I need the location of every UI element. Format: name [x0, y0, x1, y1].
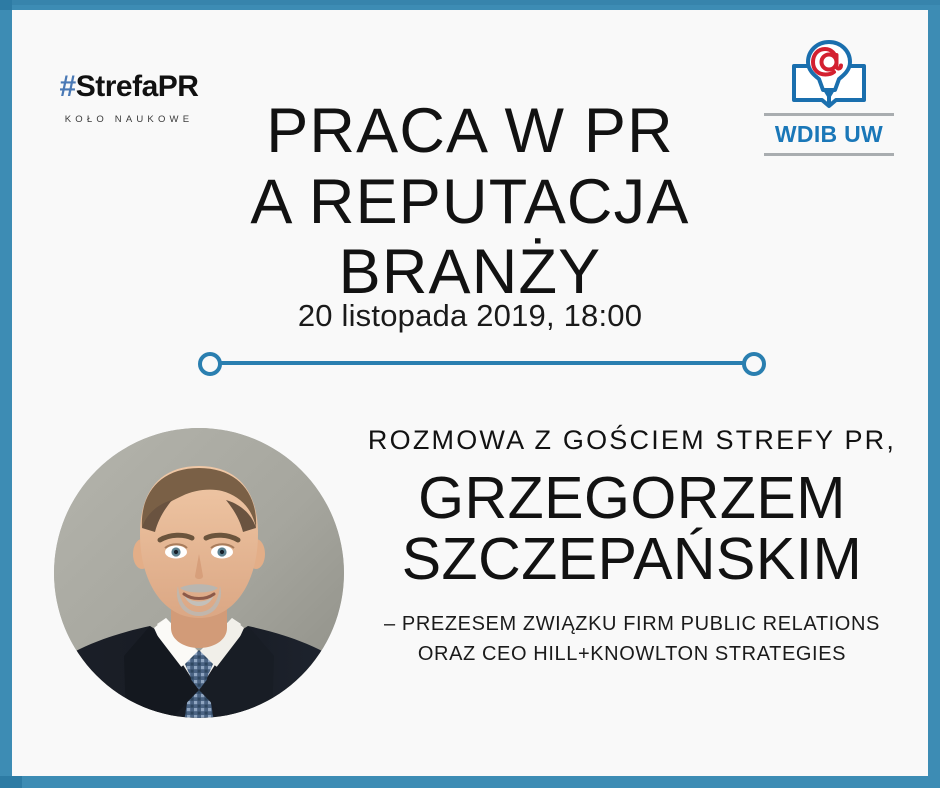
speaker-role-line-1: – PREZESEM ZWIĄZKU FIRM PUBLIC RELATIONS — [352, 609, 912, 639]
speaker-role: – PREZESEM ZWIĄZKU FIRM PUBLIC RELATIONS… — [352, 609, 912, 669]
event-datetime: 20 listopada 2019, 18:00 — [12, 298, 928, 334]
speaker-name: GRZEGORZEM SZCZEPAŃSKIM — [352, 468, 912, 588]
title-line-2: A REPUTACJA — [12, 167, 928, 238]
poster-title: PRACA W PR A REPUTACJA BRANŻY — [12, 96, 928, 308]
title-line-1: PRACA W PR — [12, 96, 928, 167]
event-poster: #StrefaPR KOŁO NAUKOWE — [0, 0, 940, 788]
divider-bar — [209, 361, 755, 365]
frame-corner-top-left — [0, 0, 12, 10]
speaker-name-line-2: SZCZEPAŃSKIM — [352, 529, 912, 589]
speaker-block: ROZMOWA Z GOŚCIEM STREFY PR, GRZEGORZEM … — [352, 424, 912, 669]
speaker-name-line-1: GRZEGORZEM — [352, 468, 912, 528]
frame-top-strip — [0, 0, 940, 5]
poster-canvas: #StrefaPR KOŁO NAUKOWE — [12, 10, 928, 776]
divider-dot-left — [198, 352, 222, 376]
divider-dot-right — [742, 352, 766, 376]
frame-corner-bottom-left — [0, 776, 22, 788]
decorative-divider — [198, 352, 766, 374]
speaker-role-line-2: ORAZ CEO HILL+KNOWLTON STRATEGIES — [352, 639, 912, 669]
speaker-portrait — [54, 428, 344, 718]
speaker-kicker: ROZMOWA Z GOŚCIEM STREFY PR, — [352, 424, 912, 456]
